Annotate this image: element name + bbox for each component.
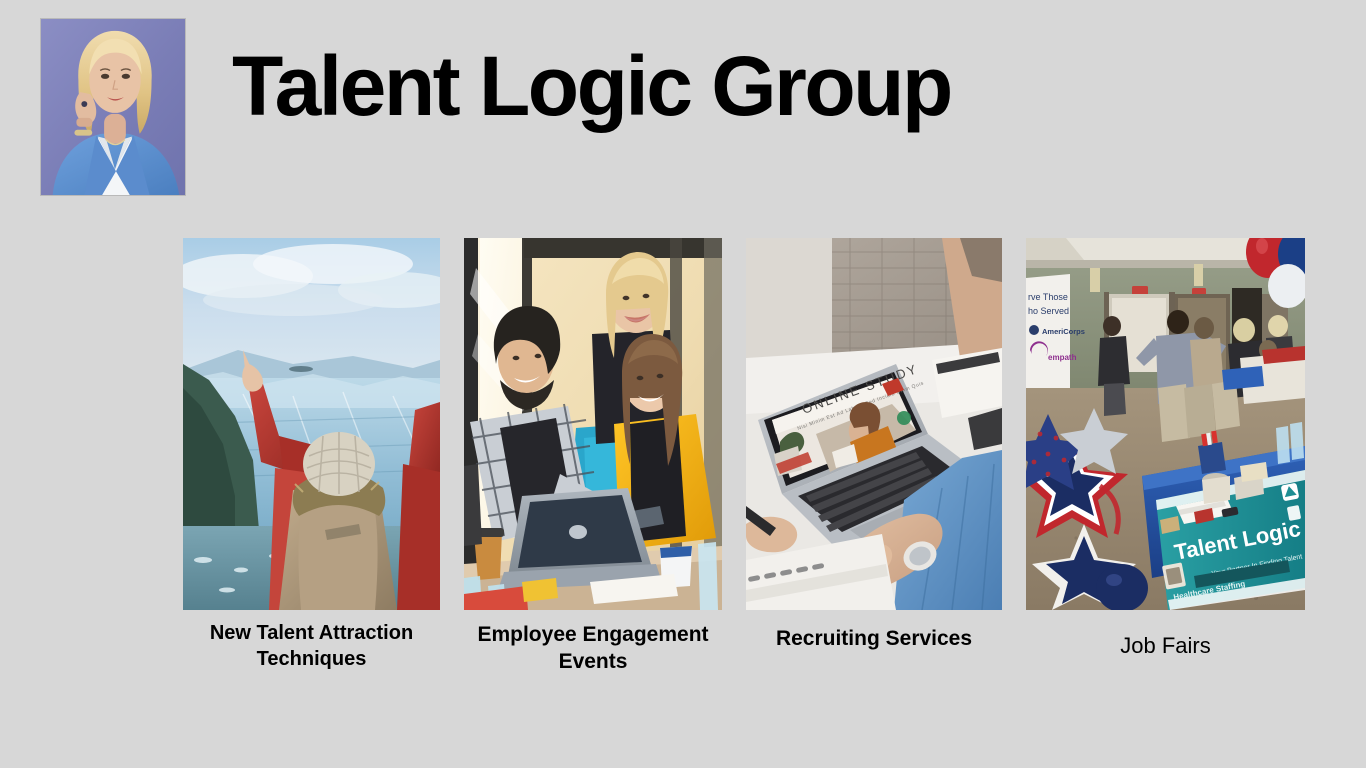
service-card-grid: New Talent Attraction Techniques bbox=[0, 238, 1366, 738]
headshot-portrait-icon bbox=[40, 18, 186, 196]
service-card-new-talent-attraction[interactable]: New Talent Attraction Techniques bbox=[183, 238, 440, 672]
backdrop-line-2: ho Served bbox=[1028, 306, 1069, 316]
service-card-employee-engagement[interactable]: Employee Engagement Events bbox=[464, 238, 722, 676]
page-title: Talent Logic Group bbox=[232, 44, 951, 128]
service-card-caption: Job Fairs bbox=[1026, 632, 1305, 660]
svg-text:empath: empath bbox=[1048, 353, 1077, 362]
service-card-caption: New Talent Attraction Techniques bbox=[183, 621, 440, 672]
service-card-recruiting-services[interactable]: ONLINE STUDY Nisi Minim Est Ad Labore Se… bbox=[746, 238, 1002, 653]
service-card-caption: Recruiting Services bbox=[746, 626, 1002, 653]
service-card-job-fairs[interactable]: rve Those ho Served AmeriCorps empath bbox=[1026, 238, 1305, 660]
slide-canvas: Talent Logic Group bbox=[0, 0, 1366, 768]
job-fair-booth-photo-icon: rve Those ho Served AmeriCorps empath bbox=[1026, 238, 1305, 610]
backdrop-line-1: rve Those bbox=[1028, 292, 1068, 302]
backdrop-line-3: AmeriCorps bbox=[1042, 327, 1085, 336]
team-laptop-photo-icon bbox=[464, 238, 722, 610]
online-study-laptop-photo-icon: ONLINE STUDY Nisi Minim Est Ad Labore Se… bbox=[746, 238, 1002, 610]
glacier-travelers-photo-icon bbox=[183, 238, 440, 610]
service-card-caption: Employee Engagement Events bbox=[464, 622, 722, 676]
